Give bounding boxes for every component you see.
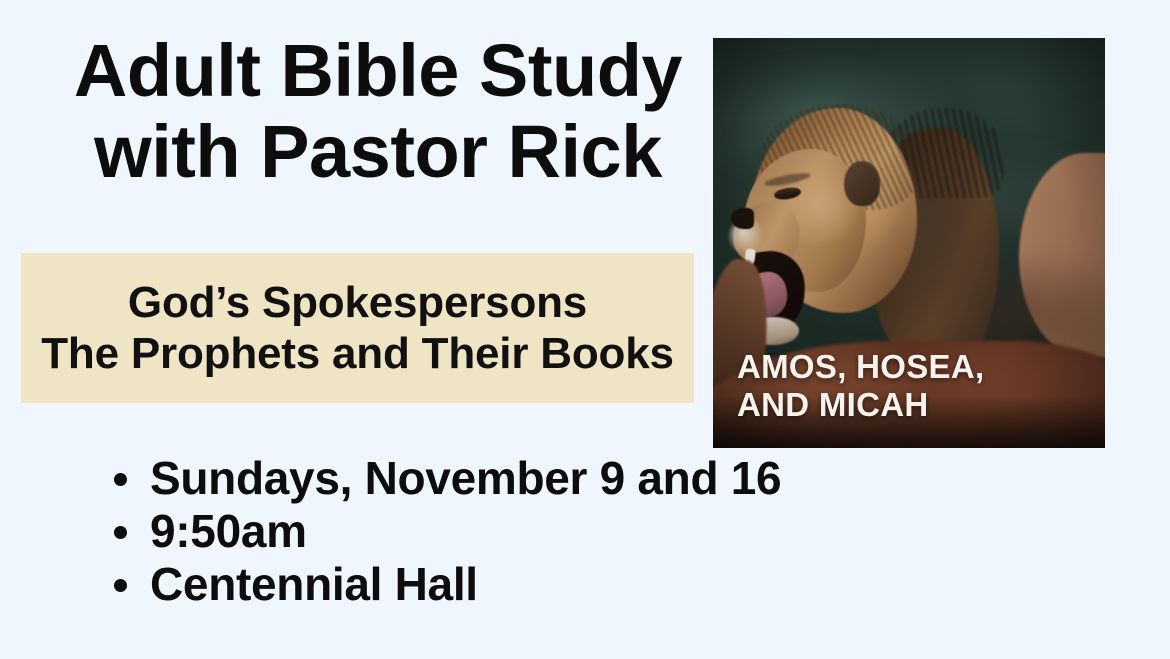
lion-photo: AMOS, HOSEA, AND MICAH [713,38,1105,448]
list-item-label: 9:50am [150,505,307,557]
list-item-label: Sundays, November 9 and 16 [150,452,781,504]
bullet-icon [114,579,127,592]
bullet-icon [114,526,127,539]
list-item: Centennial Hall [108,558,781,611]
subtitle-band: God’s Spokespersons The Prophets and The… [21,253,694,403]
page-title: Adult Bible Study with Pastor Rick [48,30,708,192]
subtitle-text: God’s Spokespersons The Prophets and The… [41,277,674,379]
event-details-list: Sundays, November 9 and 16 9:50am Centen… [108,452,781,611]
photo-caption: AMOS, HOSEA, AND MICAH [737,348,984,424]
bullet-icon [114,473,127,486]
list-item-label: Centennial Hall [150,558,478,610]
list-item: Sundays, November 9 and 16 [108,452,781,505]
presentation-slide: Adult Bible Study with Pastor Rick God’s… [0,0,1170,659]
list-item: 9:50am [108,505,781,558]
